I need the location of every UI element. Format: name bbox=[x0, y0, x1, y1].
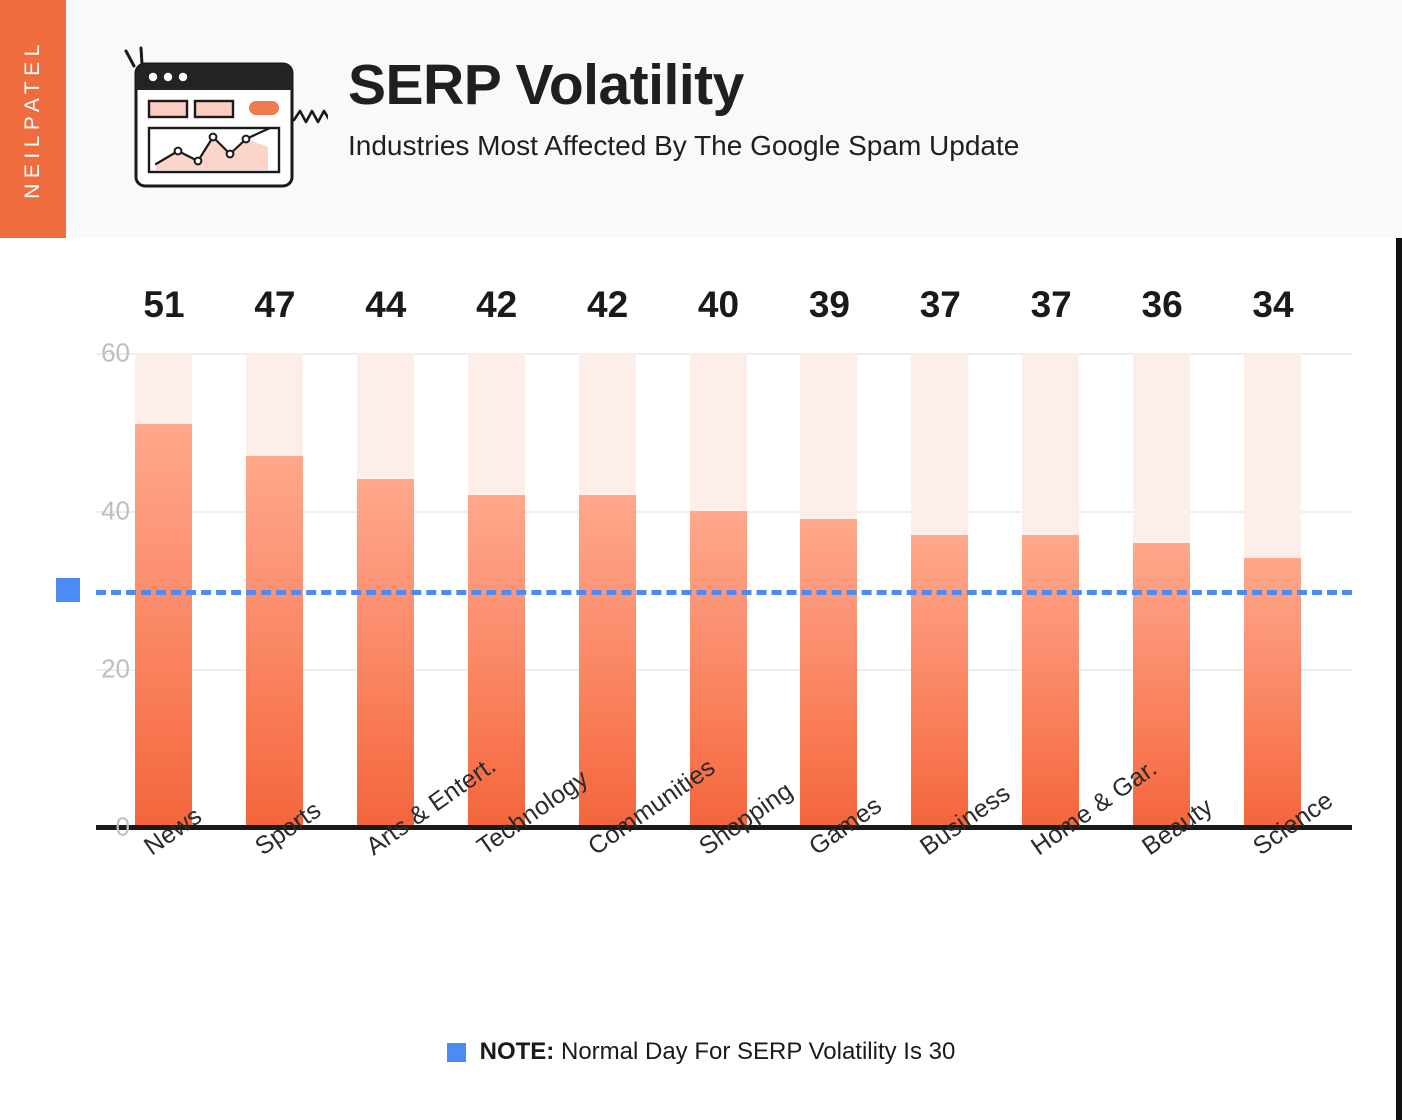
note-swatch-icon bbox=[447, 1043, 466, 1062]
bar[interactable] bbox=[800, 519, 857, 827]
reference-line bbox=[96, 590, 1352, 595]
bar[interactable] bbox=[579, 495, 636, 827]
bar-value-label: 36 bbox=[1102, 284, 1222, 326]
bar[interactable] bbox=[357, 479, 414, 827]
y-axis-tick-label: 20 bbox=[10, 654, 130, 685]
header-titles: SERP Volatility Industries Most Affected… bbox=[348, 56, 1019, 162]
y-axis-tick-label: 0 bbox=[10, 812, 130, 843]
note-body: Normal Day For SERP Volatility Is 30 bbox=[554, 1038, 955, 1065]
note-text: NOTE: Normal Day For SERP Volatility Is … bbox=[480, 1038, 956, 1066]
bar-chart: 5147444242403937373634 0204060 NewsSport… bbox=[0, 238, 1402, 1120]
page-title: SERP Volatility bbox=[348, 56, 1019, 116]
reference-line-marker-icon bbox=[56, 578, 80, 602]
bar[interactable] bbox=[1244, 558, 1301, 827]
bar-value-label: 44 bbox=[326, 284, 446, 326]
bar-value-label: 37 bbox=[991, 284, 1111, 326]
note-label: NOTE: bbox=[480, 1038, 555, 1065]
bar[interactable] bbox=[135, 424, 192, 827]
brand-name: NEILPATEL bbox=[0, 0, 66, 238]
bar-value-label: 39 bbox=[769, 284, 889, 326]
header: SERP Volatility Industries Most Affected… bbox=[66, 0, 1402, 238]
chart-note: NOTE: Normal Day For SERP Volatility Is … bbox=[0, 1038, 1402, 1066]
y-axis-tick-label: 60 bbox=[10, 338, 130, 369]
bar[interactable] bbox=[911, 535, 968, 827]
bar-value-label: 51 bbox=[104, 284, 224, 326]
brand-sidebar: NEILPATEL bbox=[0, 0, 66, 238]
bar-value-label: 37 bbox=[880, 284, 1000, 326]
bar-value-label: 40 bbox=[659, 284, 779, 326]
bar-value-label: 42 bbox=[548, 284, 668, 326]
y-axis-tick-label: 40 bbox=[10, 496, 130, 527]
bar[interactable] bbox=[246, 456, 303, 827]
bar[interactable] bbox=[1022, 535, 1079, 827]
browser-window-chart-icon bbox=[118, 46, 328, 196]
bar-value-label: 42 bbox=[437, 284, 557, 326]
bar-value-label: 34 bbox=[1213, 284, 1333, 326]
page-subtitle: Industries Most Affected By The Google S… bbox=[348, 130, 1019, 162]
bar-value-label: 47 bbox=[215, 284, 335, 326]
